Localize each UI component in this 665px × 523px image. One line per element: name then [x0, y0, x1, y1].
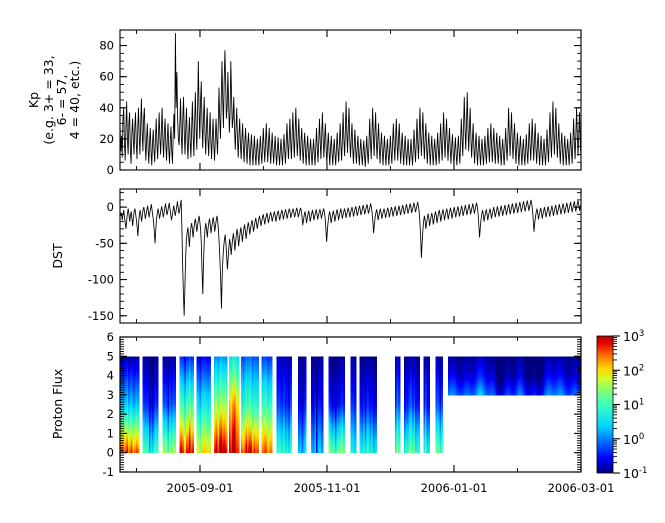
- figure-canvas: 020406080 Kp (e.g. 3+ = 33, 6- = 57, 4 =…: [0, 0, 665, 523]
- y-tick-label: 0: [107, 200, 114, 214]
- heatmap-cell: [192, 451, 194, 454]
- heatmap-cell: [271, 451, 273, 454]
- plot-svg: 020406080 Kp (e.g. 3+ = 33, 6- = 57, 4 =…: [0, 0, 665, 523]
- heatmap-cell: [157, 451, 159, 454]
- y-tick-label: 80: [99, 39, 114, 53]
- y-tick-label: 0: [107, 163, 114, 177]
- heatmap-cell: [209, 451, 211, 454]
- heatmap-cell: [290, 451, 292, 454]
- heatmap-cell: [174, 451, 176, 454]
- kp-axis-label-line4: 4 = 40, etc.): [67, 61, 82, 140]
- y-tick-label: -100: [88, 273, 114, 287]
- y-tick-label: 20: [99, 132, 114, 146]
- kp-axis-label-line1: Kp: [26, 92, 41, 108]
- y-tick-label: 40: [99, 101, 114, 115]
- y-tick-label: 60: [99, 70, 114, 84]
- heatmap-cell: [321, 451, 323, 454]
- heatmap-cell: [137, 451, 139, 454]
- y-tick-label: -150: [88, 309, 114, 323]
- y-tick-label: -50: [95, 236, 114, 250]
- heatmap-cell: [237, 451, 239, 454]
- heatmap-cell: [257, 451, 259, 454]
- heatmap-cell: [225, 451, 227, 454]
- dst-axis-label: DST: [50, 243, 65, 269]
- heatmap-cell: [305, 451, 307, 454]
